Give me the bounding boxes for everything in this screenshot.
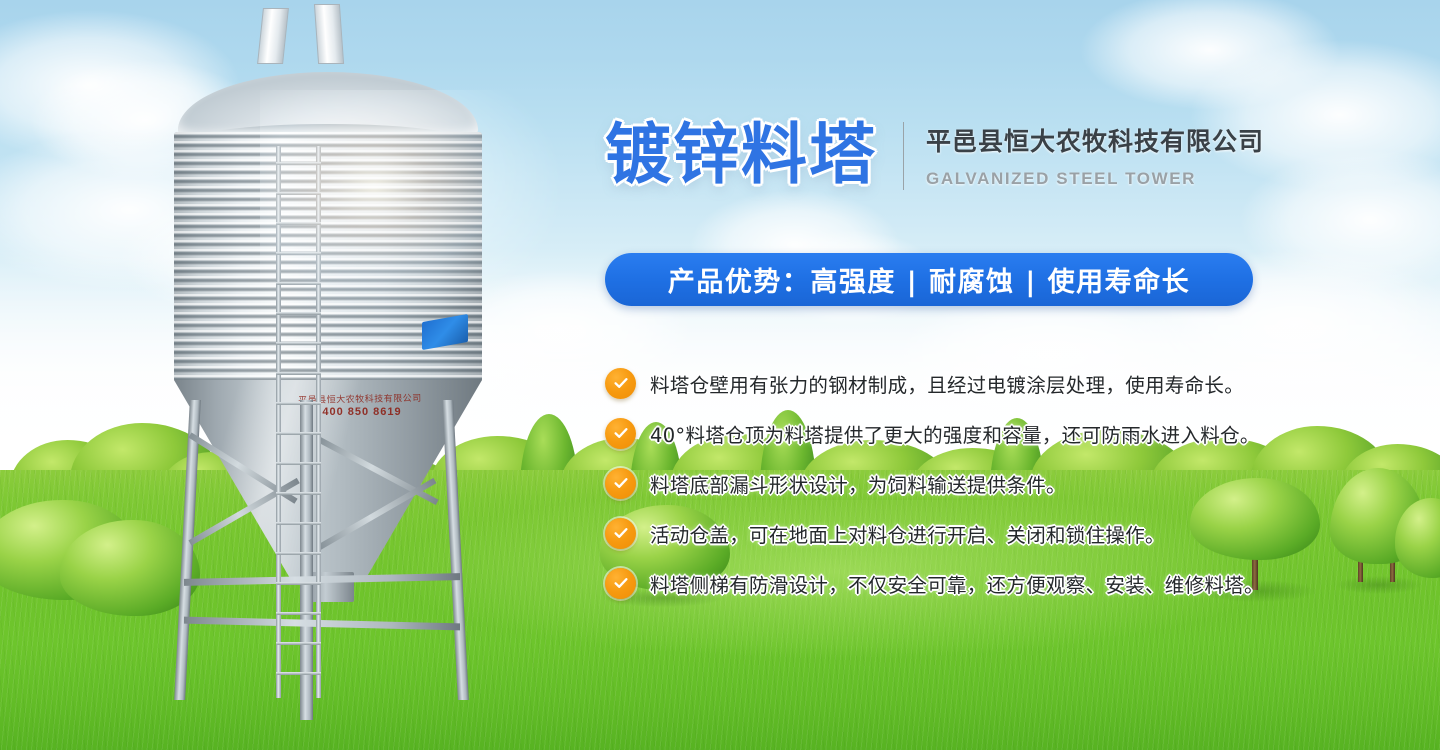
feature-item: 40°料塔仓顶为料塔提供了更大的强度和容量，还可防雨水进入料仓。 xyxy=(605,408,1305,458)
hero-banner: 平邑县恒大农牧科技有限公司 400 850 8619 xyxy=(0,0,1440,750)
title-divider xyxy=(903,122,904,190)
advantage-banner: 产品优势：高强度 | 耐腐蚀 | 使用寿命长 xyxy=(605,253,1253,306)
check-circle-icon xyxy=(605,468,636,499)
feature-text: 料塔底部漏斗形状设计，为饲料输送提供条件。 xyxy=(650,469,1066,498)
feature-text: 料塔侧梯有防滑设计，不仅安全可靠，还方便观察、安装、维修料塔。 xyxy=(650,569,1264,598)
check-circle-icon xyxy=(605,568,636,599)
feature-item: 活动仓盖，可在地面上对料仓进行开启、关闭和锁住操作。 xyxy=(605,508,1305,558)
feature-text: 40°料塔仓顶为料塔提供了更大的强度和容量，还可防雨水进入料仓。 xyxy=(650,419,1260,448)
feature-list: 料塔仓壁用有张力的钢材制成，且经过电镀涂层处理，使用寿命长。 40°料塔仓顶为料… xyxy=(605,358,1305,608)
check-circle-icon xyxy=(605,418,636,449)
feature-item: 料塔侧梯有防滑设计，不仅安全可靠，还方便观察、安装、维修料塔。 xyxy=(605,558,1305,608)
feature-text: 活动仓盖，可在地面上对料仓进行开启、关闭和锁住操作。 xyxy=(650,519,1165,548)
check-circle-icon xyxy=(605,518,636,549)
feature-item: 料塔底部漏斗形状设计，为饲料输送提供条件。 xyxy=(605,458,1305,508)
page-title: 镀锌料塔 xyxy=(605,122,877,188)
company-name: 平邑县恒大农牧科技有限公司 xyxy=(926,125,1264,159)
feature-text: 料塔仓壁用有张力的钢材制成，且经过电镀涂层处理，使用寿命长。 xyxy=(650,369,1244,398)
hero-content: 镀锌料塔 平邑县恒大农牧科技有限公司 GALVANIZED STEEL TOWE… xyxy=(0,0,1440,750)
feature-item: 料塔仓壁用有张力的钢材制成，且经过电镀涂层处理，使用寿命长。 xyxy=(605,358,1305,408)
headline-row: 镀锌料塔 平邑县恒大农牧科技有限公司 GALVANIZED STEEL TOWE… xyxy=(605,120,1264,190)
company-name-english: GALVANIZED STEEL TOWER xyxy=(926,169,1264,189)
advantage-banner-text: 产品优势：高强度 | 耐腐蚀 | 使用寿命长 xyxy=(668,260,1190,299)
company-block: 平邑县恒大农牧科技有限公司 GALVANIZED STEEL TOWER xyxy=(926,121,1264,189)
check-circle-icon xyxy=(605,368,636,399)
